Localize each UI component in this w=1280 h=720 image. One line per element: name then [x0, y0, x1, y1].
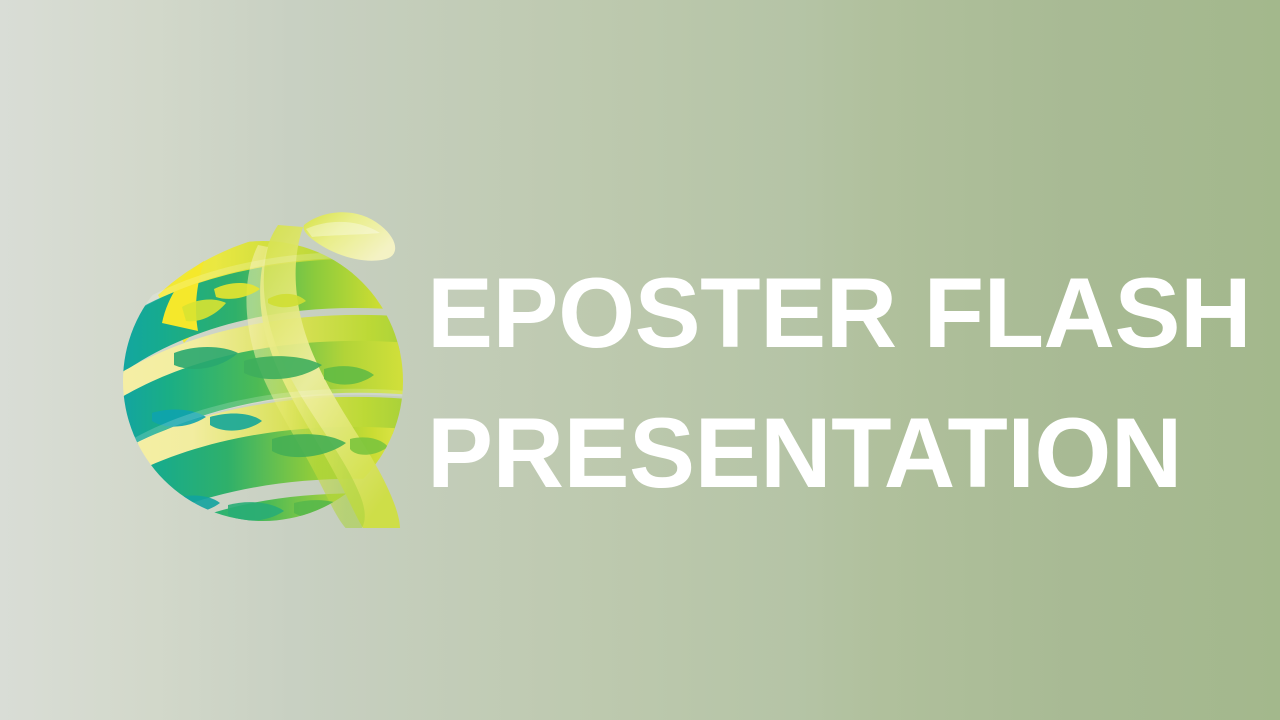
title-slide: EPOSTER FLASH PRESENTATION: [0, 0, 1280, 720]
title-line-2: PRESENTATION: [427, 383, 1217, 523]
globe-ribbon-leaf-logo: [118, 203, 408, 528]
page-title: EPOSTER FLASH PRESENTATION: [427, 243, 1217, 523]
title-line-1: EPOSTER FLASH: [427, 243, 1217, 383]
